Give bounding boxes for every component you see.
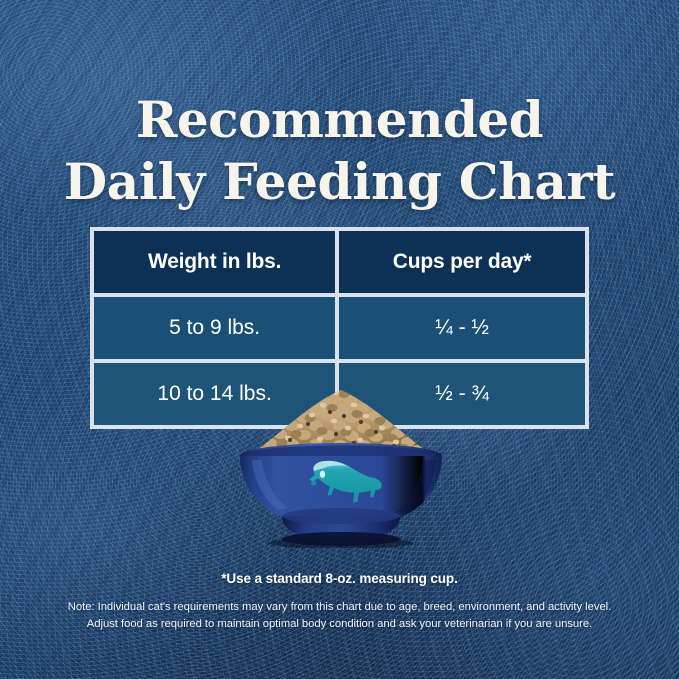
- measuring-cup-footnote: *Use a standard 8-oz. measuring cup.: [0, 571, 679, 586]
- bowl-svg: [226, 388, 456, 548]
- cell-cups-amount: ¼ - ½: [337, 295, 587, 361]
- column-header-cups: Cups per day*: [337, 229, 587, 295]
- title-line-2: Daily Feeding Chart: [0, 157, 679, 207]
- title-line-1: Recommended: [0, 95, 679, 145]
- note-line-2: Adjust food as required to maintain opti…: [0, 616, 679, 633]
- bowl-body: [240, 443, 442, 548]
- table-row: 5 to 9 lbs. ¼ - ½: [92, 295, 587, 361]
- cell-weight-range: 5 to 9 lbs.: [92, 295, 337, 361]
- table-header-row: Weight in lbs. Cups per day*: [92, 229, 587, 295]
- dog-bowl-illustration: [226, 388, 456, 548]
- note-line-1: Note: Individual cat's requirements may …: [0, 599, 679, 616]
- column-header-weight: Weight in lbs.: [92, 229, 337, 295]
- page-title: Recommended Daily Feeding Chart: [0, 95, 679, 207]
- disclaimer-note: Note: Individual cat's requirements may …: [0, 599, 679, 632]
